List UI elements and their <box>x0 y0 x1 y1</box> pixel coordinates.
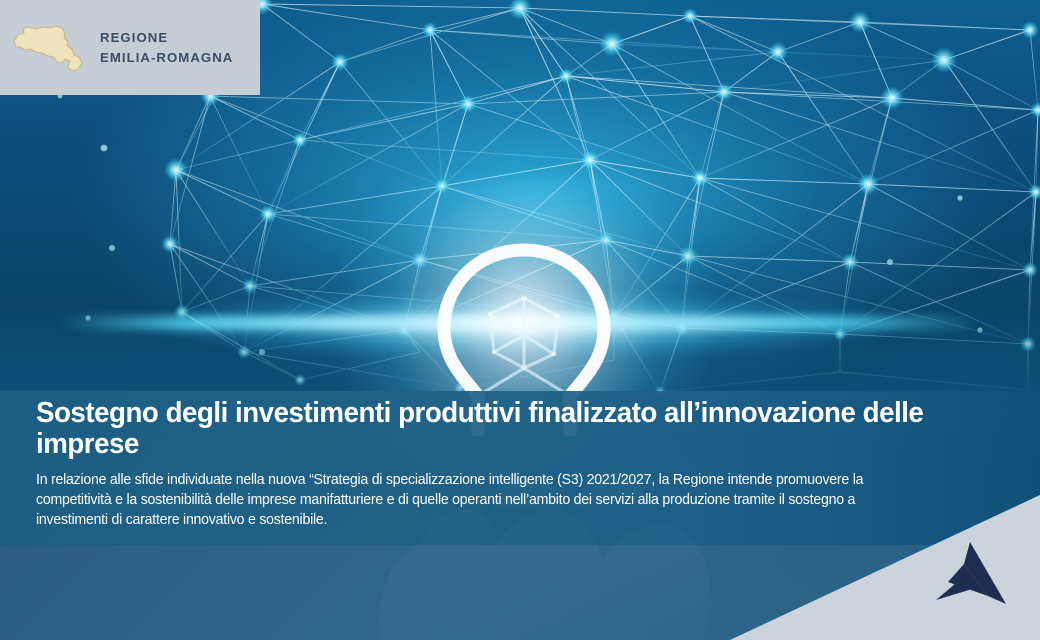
regione-logo: REGIONE EMILIA-ROMAGNA <box>0 0 260 95</box>
regione-logo-line2: EMILIA-ROMAGNA <box>100 48 233 67</box>
arrow-chevron-logo-icon <box>918 538 1018 610</box>
regione-logo-line1: REGIONE <box>100 28 233 47</box>
emilia-romagna-map-icon <box>10 19 88 77</box>
regione-logo-text: REGIONE EMILIA-ROMAGNA <box>100 28 233 66</box>
promotional-banner: Sostegno degli investimenti produttivi f… <box>0 0 1040 640</box>
hero-text-block: Sostegno degli investimenti produttivi f… <box>36 398 966 530</box>
hero-description: In relazione alle sfide individuate nell… <box>36 470 901 531</box>
page-title: Sostegno degli investimenti produttivi f… <box>36 398 924 461</box>
